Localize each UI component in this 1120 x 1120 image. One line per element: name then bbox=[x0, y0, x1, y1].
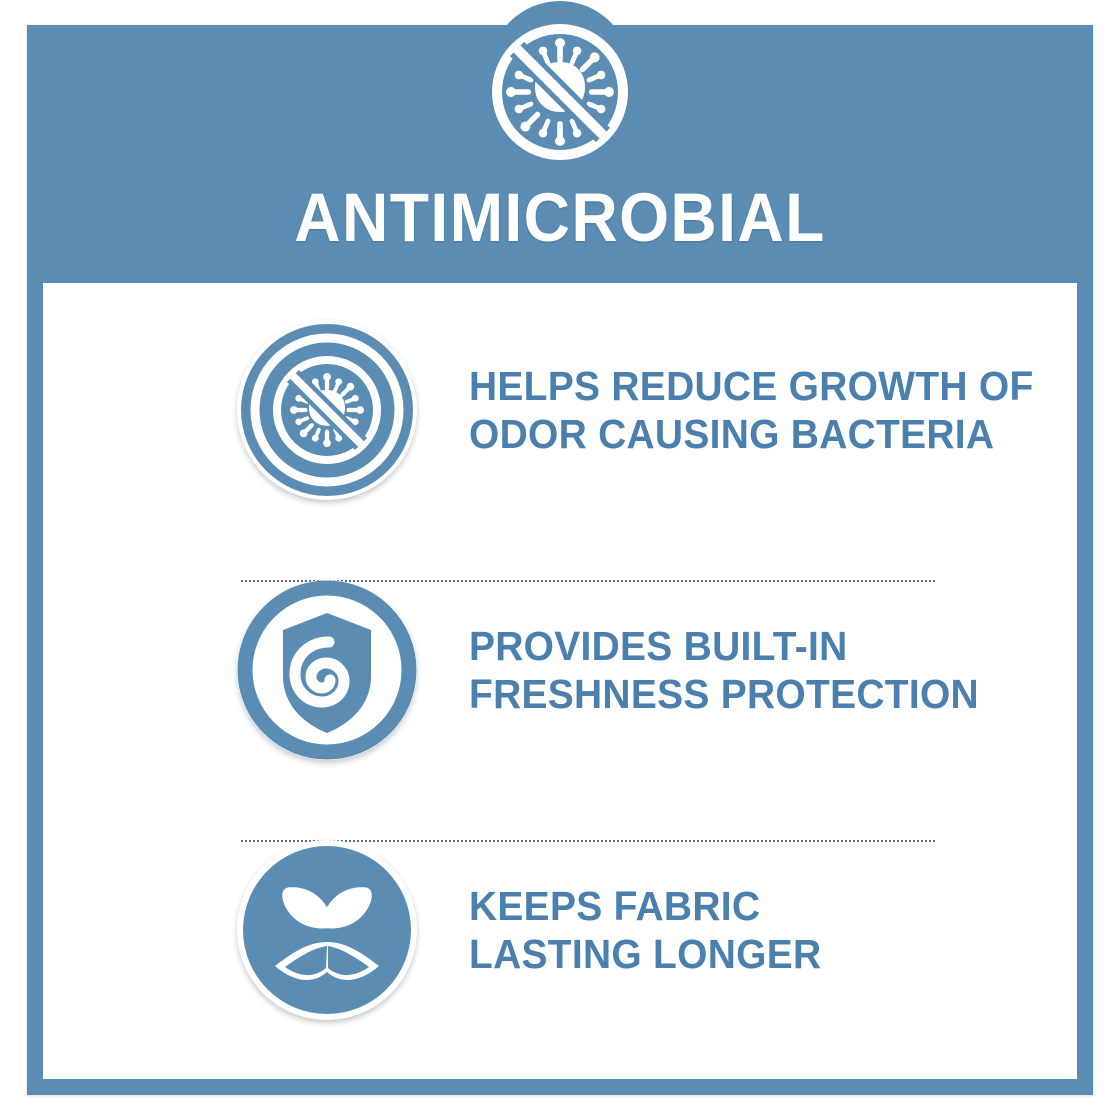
no-germ-badge bbox=[237, 320, 417, 500]
feature-label: PROVIDES BUILT-IN FRESHNESS PROTECTION bbox=[469, 622, 979, 719]
shield-swirl-badge bbox=[237, 580, 417, 760]
feature-row: HELPS REDUCE GROWTH OF ODOR CAUSING BACT… bbox=[43, 301, 1077, 519]
feature-label: HELPS REDUCE GROWTH OF ODOR CAUSING BACT… bbox=[469, 362, 1034, 459]
features-panel: HELPS REDUCE GROWTH OF ODOR CAUSING BACT… bbox=[43, 283, 1077, 1079]
leaf-sprout-badge bbox=[237, 840, 417, 1020]
page-title: ANTIMICROBIAL bbox=[64, 183, 1055, 252]
antimicrobial-infographic: ANTIMICROBIAL bbox=[0, 0, 1120, 1120]
feature-label: KEEPS FABRIC LASTING LONGER bbox=[469, 882, 821, 979]
no-germ-icon bbox=[485, 17, 635, 167]
poster-header: ANTIMICROBIAL bbox=[27, 25, 1093, 283]
feature-row: KEEPS FABRIC LASTING LONGER bbox=[43, 821, 1077, 1039]
feature-row: PROVIDES BUILT-IN FRESHNESS PROTECTION bbox=[43, 561, 1077, 779]
poster-frame: ANTIMICROBIAL bbox=[27, 25, 1093, 1095]
